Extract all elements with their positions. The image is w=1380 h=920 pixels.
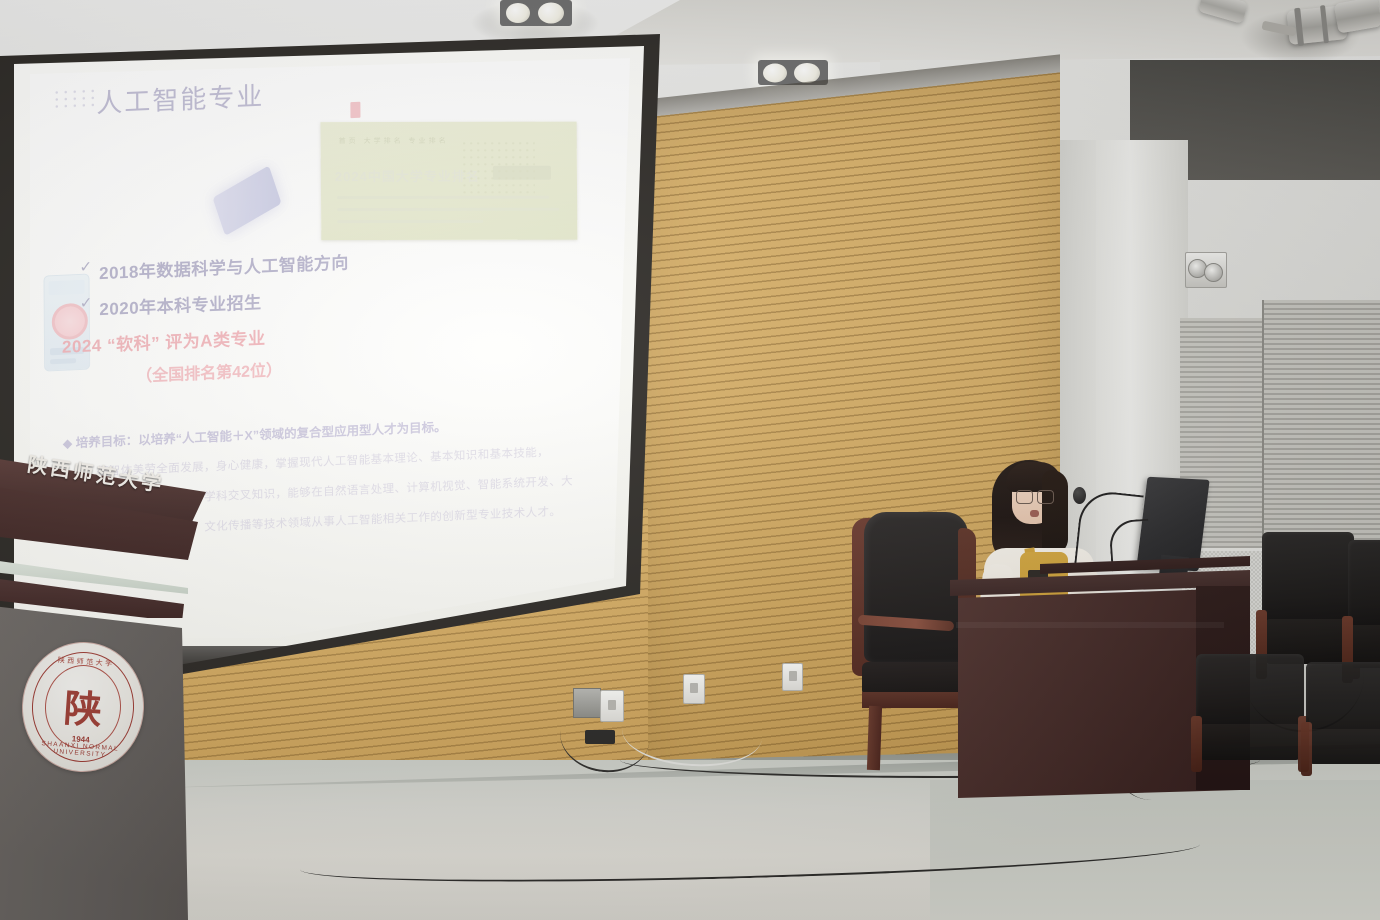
slide-highlight: 2024 “软科” 评为A类专业 bbox=[62, 320, 350, 358]
wall-speaker-icon bbox=[1185, 252, 1227, 288]
slide-goal-text: 以培养“人工智能＋X”领域的复合型应用型人才为目标。 bbox=[138, 420, 446, 447]
ranking-card-line-2 bbox=[337, 208, 559, 211]
audience-chair-3[interactable] bbox=[1196, 654, 1304, 774]
slide-goal-label: ◆ 培养目标： bbox=[63, 433, 139, 450]
slide-bullet-1: ✓ 2018年数据科学与人工智能方向 bbox=[79, 248, 349, 285]
slide-logo-mark bbox=[350, 102, 360, 118]
slide-title: 人工智能专业 bbox=[96, 76, 264, 120]
wall-outlet-2[interactable] bbox=[683, 674, 705, 704]
audience-chair-4[interactable] bbox=[1306, 662, 1380, 778]
check-icon: ✓ bbox=[79, 259, 92, 275]
slide-bullet-list: ✓ 2018年数据科学与人工智能方向 ✓ 2020年本科专业招生 2024 “软… bbox=[79, 248, 349, 389]
slide-graphic-blue bbox=[212, 165, 281, 236]
check-icon: ✓ bbox=[80, 295, 93, 311]
emblem-glyph: 陕 bbox=[62, 677, 104, 735]
downlight-1 bbox=[500, 0, 572, 26]
microphone-icon[interactable] bbox=[1073, 487, 1086, 504]
slide-bullet-2: ✓ 2020年本科专业招生 bbox=[80, 284, 350, 321]
slide-bullet-2-text: 2020年本科专业招生 bbox=[99, 288, 261, 320]
ranking-card-line-1 bbox=[337, 196, 549, 199]
wall-outlet-3[interactable] bbox=[782, 663, 803, 691]
slide-decor-dots bbox=[52, 87, 98, 109]
blind-cord[interactable] bbox=[1262, 300, 1264, 550]
lecture-hall-photo: 人工智能专业 首页 大学排名 专业排名 2024中国大学专业排名 bbox=[0, 0, 1380, 920]
ranking-card-title: 2024中国大学专业排名 bbox=[335, 166, 480, 185]
window-blinds-right bbox=[1262, 300, 1380, 550]
ranking-card-line-3 bbox=[337, 220, 483, 223]
slide-highlight-sub: （全国排名第42位） bbox=[136, 353, 350, 386]
glasses-icon bbox=[1016, 490, 1052, 502]
ranking-card-nav: 首页 大学排名 专业排名 bbox=[339, 136, 449, 146]
ranking-card-dot-pattern bbox=[461, 140, 535, 196]
ranking-card: 首页 大学排名 专业排名 2024中国大学专业排名 bbox=[321, 122, 578, 240]
slide-goal-row: ◆ 培养目标：以培养“人工智能＋X”领域的复合型应用型人才为目标。 bbox=[63, 416, 447, 453]
slide-bullet-1-text: 2018年数据科学与人工智能方向 bbox=[99, 248, 349, 284]
